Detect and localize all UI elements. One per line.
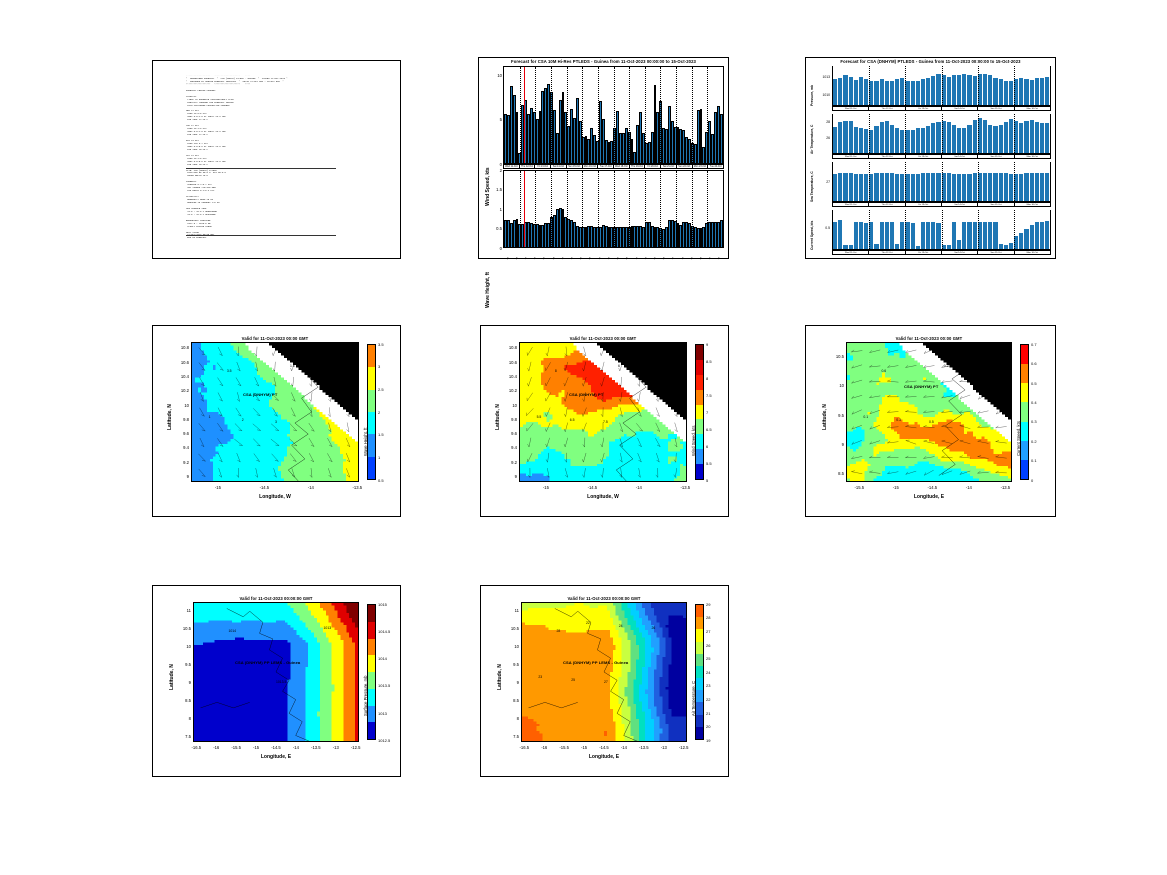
- x-tick-label: -13.5: [998, 485, 1012, 490]
- x-tick-label: -13: [329, 745, 343, 750]
- y-tick-label: 10: [830, 383, 844, 388]
- colorbar-title: Wind Speed, kts: [691, 425, 696, 456]
- bar: [1045, 77, 1050, 105]
- date-cell: Mon 16-Oct: [1014, 154, 1051, 159]
- colorbar-tick-label: 7.5: [706, 393, 712, 398]
- y-tick-label: 9.8: [175, 417, 189, 422]
- x-tick-label: -14.5: [925, 485, 939, 490]
- colorbar: [367, 344, 376, 480]
- y-tick-label: 8.5: [830, 471, 844, 476]
- colorbar-segment: [1021, 460, 1028, 479]
- colorbar-tick-label: 6: [706, 444, 708, 449]
- gridline: [1014, 114, 1015, 153]
- colorbar-tick-label: 2: [378, 410, 380, 415]
- contour-label: 24: [619, 624, 623, 628]
- colorbar-segment: [368, 639, 375, 656]
- y-tick-label: 9.4: [503, 445, 517, 450]
- y-tick-label: 10: [175, 403, 189, 408]
- colorbar-tick-label: 1015: [378, 602, 387, 607]
- map-title: Valid for 11-Oct-2023 00:00:00 GMT: [521, 596, 687, 601]
- y-tick-label: 7.5: [177, 734, 191, 739]
- contour-label: 1013.5: [276, 680, 286, 684]
- site-label: CSA (DNHYM) PP LEMS - Guinea: [563, 660, 628, 665]
- colorbar-title: Surface Pressure, mb: [363, 675, 368, 716]
- x-tick-label: -13.5: [678, 485, 692, 490]
- gridline: [869, 114, 870, 153]
- contour-label: 1: [209, 415, 211, 419]
- gridline: [869, 66, 870, 105]
- colorbar-tick-label: 25: [706, 656, 710, 661]
- x-tick-label: -14.5: [257, 485, 271, 490]
- y-tick-label: 8.5: [177, 698, 191, 703]
- date-cell: Thu 12-Oct: [868, 106, 904, 111]
- site-label: CSA (DNHYM) PT: [569, 392, 603, 397]
- x-tick-label: -15: [249, 745, 263, 750]
- y-tick-label: 10.8: [175, 345, 189, 350]
- colorbar-tick-label: 0: [1031, 478, 1033, 483]
- date-cell: Mon 16-Oct: [1014, 202, 1051, 207]
- colorbar-segment: [368, 605, 375, 622]
- y-tick-label: 28: [812, 120, 830, 124]
- colorbar: [367, 604, 376, 740]
- y-tick-label: 0.5: [489, 226, 502, 231]
- bar: [1045, 173, 1050, 201]
- date-cell: Sun 15-Oct: [977, 202, 1013, 207]
- y-tick-label: 7.5: [505, 734, 519, 739]
- colorbar-segment: [696, 666, 703, 678]
- date-cell: Thu 12-Oct: [868, 154, 904, 159]
- colorbar-tick-label: 7: [706, 410, 708, 415]
- colorbar-tick-label: 29: [706, 602, 710, 607]
- colorbar-tick-label: 0.5: [378, 478, 384, 483]
- colorbar-tick-label: 0.7: [1031, 342, 1037, 347]
- y-tick-label: 11: [505, 608, 519, 613]
- date-strip: Wed 11-OctThu 12-OctFri 13-OctSat 14-Oct…: [832, 154, 1051, 159]
- y-tick-label: 1: [489, 207, 502, 212]
- y-tick-label: 10.8: [503, 345, 517, 350]
- colorbar-tick-label: 1014.5: [378, 629, 390, 634]
- y-tick-label: 9.2: [503, 460, 517, 465]
- y-tick-label: 9.6: [175, 431, 189, 436]
- subplot-plot-area: [832, 210, 1051, 250]
- y-tick-label: 1.5: [489, 187, 502, 192]
- colorbar-segment: [696, 375, 703, 390]
- multi-parameter-timeseries-panel: Forecast for CSA (DNHYM) PTLEDS - Guinea…: [805, 57, 1056, 259]
- contour-label: 3.5: [227, 369, 232, 373]
- date-cell: Fri 13-Oct: [905, 250, 941, 255]
- colorbar-tick-label: 1013.5: [378, 683, 390, 688]
- colorbar-title: Air Temperature, C: [691, 680, 696, 715]
- x-tick-label: -14: [632, 485, 646, 490]
- y-tick-label: 9.5: [830, 413, 844, 418]
- colorbar-tick-label: 5: [706, 478, 708, 483]
- contour-label: 2.5: [323, 366, 328, 370]
- y-tick-label: 9.8: [503, 417, 517, 422]
- date-cell: Fri 13-Oct: [905, 154, 941, 159]
- y-tick-label: 9.6: [503, 431, 517, 436]
- y-tick-label: 9: [830, 442, 844, 447]
- y-tick-label: 9: [503, 474, 517, 479]
- colorbar-tick-label: 6.5: [706, 427, 712, 432]
- colorbar-tick-label: 27: [706, 629, 710, 634]
- contour-label: 0.2: [944, 364, 949, 368]
- y-tick-label: 9: [175, 474, 189, 479]
- gridline: [1014, 162, 1015, 201]
- y-tick-label: 10: [503, 403, 517, 408]
- map-plot-area[interactable]: 10141013.51013: [193, 602, 359, 742]
- y-tick-label: 9.5: [505, 662, 519, 667]
- contour-label: 1013: [324, 626, 332, 630]
- contour-label: 0.5: [929, 420, 934, 424]
- y-tick-label: 10.4: [175, 374, 189, 379]
- gridline: [905, 162, 906, 201]
- x-tick-label: -16: [209, 745, 223, 750]
- y-axis-label: Latitude, N: [169, 664, 175, 690]
- colorbar-segment: [368, 412, 375, 434]
- date-cell: Sat 14-Oct: [941, 106, 977, 111]
- colorbar-tick-label: 20: [706, 724, 710, 729]
- colorbar-segment: [696, 360, 703, 375]
- y-tick-label: 10.4: [503, 374, 517, 379]
- x-axis-label: Longitude, W: [519, 494, 687, 500]
- date-cell: Sat 14-Oct: [941, 202, 977, 207]
- y-tick-label: 9.4: [175, 445, 189, 450]
- date-cell: Mon 16-Oct: [1014, 106, 1051, 111]
- contour-label: 5.5: [537, 415, 542, 419]
- contour-label: 2: [242, 418, 244, 422]
- colorbar-segment: [696, 390, 703, 405]
- colorbar-segment: [1021, 402, 1028, 421]
- contour-label: 25: [571, 678, 575, 682]
- colorbar-segment: [1021, 441, 1028, 460]
- contour-label: 3: [275, 420, 277, 424]
- x-tick-label: -16.5: [517, 745, 531, 750]
- date-cell: Sat 14-Oct: [941, 154, 977, 159]
- colorbar-segment: [696, 690, 703, 702]
- colorbar-tick-label: 26: [706, 643, 710, 648]
- colorbar-tick-label: 23: [706, 683, 710, 688]
- colorbar-tick-label: 0.1: [1031, 458, 1037, 463]
- map-plot-area[interactable]: 0.60.50.40.30.20.1: [846, 342, 1012, 482]
- x-tick-label: -13.5: [637, 745, 651, 750]
- date-cell: Wed 11-Oct: [832, 154, 868, 159]
- colorbar-tick-label: 21: [706, 711, 710, 716]
- y-tick-label: 2: [489, 168, 502, 173]
- x-tick-label: -15: [211, 485, 225, 490]
- colorbar-tick-label: 9: [706, 342, 708, 347]
- colorbar-segment: [368, 655, 375, 672]
- date-cell: Sun 15-Oct: [977, 154, 1013, 159]
- colorbar-segment: [696, 464, 703, 479]
- site-label: CSA (DNHYM) PP LEMS - Guinea: [235, 660, 300, 665]
- colorbar-tick-label: 1014: [378, 656, 387, 661]
- colorbar-tick-label: 0.4: [1031, 400, 1037, 405]
- x-tick-label: -15.5: [852, 485, 866, 490]
- contour-label: 27: [604, 680, 608, 684]
- forecast-text-report-panel: ******************* ********************…: [152, 60, 401, 259]
- date-cell: Thu 12-Oct: [868, 250, 904, 255]
- colorbar-tick-label: 1: [378, 455, 380, 460]
- x-tick-label: -12.5: [349, 745, 363, 750]
- x-tick-label: -12.5: [677, 745, 691, 750]
- colorbar-segment: [696, 702, 703, 714]
- site-label: CSA (DNHYM) PT: [904, 384, 938, 389]
- colorbar-tick-label: 1012.5: [378, 738, 390, 743]
- gridline: [1014, 210, 1015, 249]
- colorbar-segment: [368, 689, 375, 706]
- colorbar-segment: [368, 367, 375, 389]
- gridline: [905, 66, 906, 105]
- y-tick-label: 10: [177, 644, 191, 649]
- colorbar-tick-label: 0.5: [1031, 381, 1037, 386]
- site-label: CSA (DNHYM) PT: [243, 392, 277, 397]
- x-tick-label: -13.5: [350, 485, 364, 490]
- wind-wave-timeseries-panel: Forecast for CSA 10M Hi-Res PTLEDS - Gui…: [478, 57, 729, 259]
- gridline: [1014, 66, 1015, 105]
- date-cell: Sat 14-Oct: [941, 250, 977, 255]
- y-tick-label: 10.2: [503, 388, 517, 393]
- x-tick-label: -15.5: [557, 745, 571, 750]
- y-tick-label: 9: [177, 680, 191, 685]
- bar: [1045, 123, 1050, 153]
- x-tick-label: -16.5: [189, 745, 203, 750]
- gridline: [978, 66, 979, 105]
- map-plot-area[interactable]: 87.576.565.5: [519, 342, 687, 482]
- colorbar-segment: [696, 654, 703, 666]
- current-speed-map-panel: Valid for 11-Oct-2023 00:00 GMT0.60.50.4…: [805, 325, 1056, 517]
- x-tick-label: -15.5: [229, 745, 243, 750]
- y-tick-label: 9: [505, 680, 519, 685]
- chart-title: Forecast for CSA (DNHYM) PTLEDS - Guinea…: [806, 59, 1055, 64]
- date-cell: Wed 11-Oct: [832, 202, 868, 207]
- x-axis-label: Longitude, E: [193, 754, 359, 760]
- gridline: [869, 210, 870, 249]
- y-axis-label: Latitude, N: [495, 404, 501, 430]
- x-tick-label: -14: [289, 745, 303, 750]
- colorbar-segment: [368, 622, 375, 639]
- contour-label: 28: [556, 629, 560, 633]
- colorbar-tick-label: 0.2: [1031, 439, 1037, 444]
- contour-label: 26: [652, 626, 656, 630]
- surface-pressure-map-panel: Valid for 11-Oct-2023 00:00:00 GMT101410…: [152, 585, 401, 777]
- date-cell: Fri 13-Oct: [905, 202, 941, 207]
- colorbar-segment: [1021, 383, 1028, 402]
- colorbar-segment: [696, 434, 703, 449]
- map-title: Valid for 11-Oct-2023 00:00 GMT: [846, 336, 1012, 341]
- y-axis-label: Latitude, N: [497, 664, 503, 690]
- gridline: [978, 210, 979, 249]
- contour-label: 22: [586, 621, 590, 625]
- y-tick-label: 1013: [812, 75, 830, 79]
- colorbar-title: Current Speed, kts: [1016, 421, 1021, 456]
- y-axis-label: Latitude, N: [822, 404, 828, 430]
- gridline: [905, 114, 906, 153]
- gridline: [942, 66, 943, 105]
- date-cell: Wed 11-Oct: [832, 250, 868, 255]
- y-axis-label: Latitude, N: [167, 404, 173, 430]
- y-tick-label: 26: [812, 136, 830, 140]
- colorbar-segment: [368, 390, 375, 412]
- gridline: [978, 114, 979, 153]
- colorbar-tick-label: 2.5: [378, 387, 384, 392]
- colorbar-tick-label: 3: [378, 364, 380, 369]
- y-tick-label: 11: [177, 608, 191, 613]
- map-plot-area[interactable]: 28272625242322: [521, 602, 687, 742]
- contour-label: 7: [651, 366, 653, 370]
- y-tick-label: 9.5: [177, 662, 191, 667]
- date-cell: Sun 15-Oct: [977, 250, 1013, 255]
- y-tick-label: 8.5: [505, 698, 519, 703]
- colorbar: [1020, 344, 1029, 480]
- date-cell: Mon 16-Oct: [1014, 250, 1051, 255]
- date-cell: Wed 11-Oct: [832, 106, 868, 111]
- y-tick-label: 8: [505, 716, 519, 721]
- colorbar-segment: [368, 706, 375, 723]
- date-strip: Wed 11-OctThu 12-OctFri 13-OctSat 14-Oct…: [832, 106, 1051, 111]
- subplot-plot-area: [832, 66, 1051, 106]
- wave-height-axis-label: Wave Height, ft: [485, 272, 491, 308]
- report-text-body: ******************* ********************…: [186, 75, 394, 254]
- x-axis-label: Longitude, W: [191, 494, 359, 500]
- contour-label: 1.5: [290, 364, 295, 368]
- bar: [1045, 221, 1050, 249]
- contour-label: 0.4: [977, 366, 982, 370]
- colorbar-segment: [696, 419, 703, 434]
- y-tick-label: 10.5: [830, 354, 844, 359]
- wave-height-map-panel: Valid for 11-Oct-2023 00:00 GMT3.532.521…: [152, 325, 401, 517]
- y-tick-label: 0.5: [812, 226, 830, 230]
- contour-label: 6: [618, 364, 620, 368]
- colorbar-tick-label: 28: [706, 615, 710, 620]
- date-cell: Fri 13-Oct: [905, 106, 941, 111]
- colorbar-segment: [368, 457, 375, 479]
- x-axis-label: Longitude, E: [846, 494, 1012, 500]
- y-tick-label: 1010: [812, 93, 830, 97]
- contour-label: 1014: [228, 629, 236, 633]
- y-tick-label: 9.2: [175, 460, 189, 465]
- colorbar-segment: [368, 672, 375, 689]
- colorbar-segment: [696, 727, 703, 739]
- x-tick-label: -14.5: [597, 745, 611, 750]
- colorbar-segment: [696, 629, 703, 641]
- colorbar-tick-label: 22: [706, 697, 710, 702]
- air-temperature-map-panel: Valid for 11-Oct-2023 00:00:00 GMT282726…: [480, 585, 729, 777]
- contour-label: 0.3: [896, 418, 901, 422]
- map-title: Valid for 11-Oct-2023 00:00 GMT: [519, 336, 687, 341]
- colorbar: [695, 344, 704, 480]
- colorbar-segment: [368, 345, 375, 367]
- x-tick-label: -15: [889, 485, 903, 490]
- subplot-y-axis-label: Sea Temperature, C: [810, 171, 814, 202]
- x-axis-label: Longitude, E: [521, 754, 687, 760]
- x-tick-label: -15: [539, 485, 553, 490]
- date-strip: Wed 11-OctThu 12-OctFri 13-OctSat 14-Oct…: [832, 250, 1051, 255]
- map-plot-area[interactable]: 3.532.521.51: [191, 342, 359, 482]
- date-cell: Sun 15-Oct: [977, 106, 1013, 111]
- x-tick-label: -13.5: [309, 745, 323, 750]
- y-tick-label: 10: [505, 644, 519, 649]
- colorbar-segment: [1021, 422, 1028, 441]
- contour-label: 0.6: [881, 369, 886, 373]
- colorbar-tick-label: 0.6: [1031, 361, 1037, 366]
- subplot-plot-area: [832, 162, 1051, 202]
- colorbar-tick-label: 0.3: [1031, 419, 1037, 424]
- wind-speed-map-panel: Valid for 11-Oct-2023 00:00 GMT87.576.56…: [480, 325, 729, 517]
- date-strip: Wed 11-OctThu 12-OctFri 13-OctSat 14-Oct…: [832, 202, 1051, 207]
- contour-label: 6.5: [570, 418, 575, 422]
- colorbar-segment: [696, 642, 703, 654]
- map-title: Valid for 11-Oct-2023 00:00:00 GMT: [193, 596, 359, 601]
- x-tick-label: -14.5: [585, 485, 599, 490]
- colorbar-tick-label: 8.5: [706, 359, 712, 364]
- colorbar-segment: [696, 678, 703, 690]
- colorbar-segment: [1021, 364, 1028, 383]
- gridline: [942, 210, 943, 249]
- colorbar-segment: [696, 345, 703, 360]
- colorbar-tick-label: 5.5: [706, 461, 712, 466]
- colorbar-segment: [696, 715, 703, 727]
- y-tick-label: 10.6: [503, 360, 517, 365]
- y-tick-label: 27: [812, 180, 830, 184]
- x-tick-label: -14.5: [269, 745, 283, 750]
- gridline: [869, 162, 870, 201]
- colorbar-tick-label: 8: [706, 376, 708, 381]
- colorbar: [695, 604, 704, 740]
- contour-label: 0.1: [863, 415, 868, 419]
- colorbar-segment: [696, 605, 703, 617]
- gridline: [942, 114, 943, 153]
- y-tick-label: 8: [177, 716, 191, 721]
- contour-label: 23: [538, 675, 542, 679]
- colorbar-segment: [368, 434, 375, 456]
- x-tick-label: -14: [962, 485, 976, 490]
- colorbar-title: Wave Height, ft: [363, 427, 368, 455]
- date-cell: Thu 12-Oct: [868, 202, 904, 207]
- gridline: [942, 162, 943, 201]
- colorbar-segment: [696, 405, 703, 420]
- y-tick-label: 10.6: [175, 360, 189, 365]
- y-tick-label: 10.2: [175, 388, 189, 393]
- colorbar-tick-label: 3.5: [378, 342, 384, 347]
- contour-label: 8: [555, 369, 557, 373]
- colorbar-segment: [1021, 345, 1028, 364]
- y-tick-label: 10.5: [177, 626, 191, 631]
- colorbar-segment: [368, 722, 375, 739]
- x-tick-label: -16: [537, 745, 551, 750]
- subplot-plot-area: [832, 114, 1051, 154]
- colorbar-tick-label: 1013: [378, 711, 387, 716]
- x-tick-label: -14: [304, 485, 318, 490]
- gridline: [905, 210, 906, 249]
- colorbar-segment: [696, 449, 703, 464]
- y-tick-label: 0: [489, 246, 502, 251]
- x-tick-label: -13: [657, 745, 671, 750]
- colorbar-tick-label: 24: [706, 670, 710, 675]
- colorbar-tick-label: 19: [706, 738, 710, 743]
- wave-height-y-ticks: 00.511.52: [479, 58, 728, 258]
- map-title: Valid for 11-Oct-2023 00:00 GMT: [191, 336, 359, 341]
- x-tick-label: -14: [617, 745, 631, 750]
- colorbar-tick-label: 1.5: [378, 432, 384, 437]
- contour-label: 7.5: [603, 420, 608, 424]
- x-tick-label: -15: [577, 745, 591, 750]
- gridline: [978, 162, 979, 201]
- colorbar-segment: [696, 617, 703, 629]
- y-tick-label: 10.5: [505, 626, 519, 631]
